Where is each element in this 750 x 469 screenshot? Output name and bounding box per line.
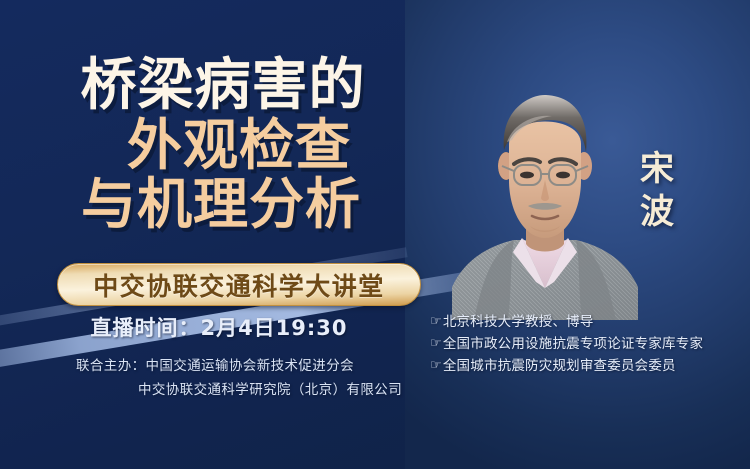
speaker-portrait [452, 92, 638, 320]
credential-item: ☞北京科技大学教授、博导 [430, 312, 703, 334]
speaker-name: 宋 波 [630, 148, 684, 233]
speaker-name-char-2: 波 [630, 191, 684, 234]
title-line-1: 桥梁病害的 [0, 58, 438, 114]
pointing-hand-icon: ☞ [430, 333, 442, 354]
webinar-poster: 桥梁病害的 外观检查 与机理分析 中交协联交通科学大讲堂 直播时间：2月4日19… [0, 0, 750, 469]
speaker-name-char-1: 宋 [630, 148, 684, 191]
credential-text: 全国市政公用设施抗震专项论证专家库专家 [443, 336, 703, 352]
organizer-line-1: 联合主办：中国交通运输协会新技术促进分会 [76, 355, 446, 379]
title-line-2: 外观检查 [0, 118, 438, 173]
credential-item: ☞全国城市抗震防灾规划审查委员会委员 [430, 356, 703, 378]
credential-item: ☞全国市政公用设施抗震专项论证专家库专家 [430, 334, 703, 356]
pointing-hand-icon: ☞ [430, 355, 442, 376]
title-line-3: 与机理分析 [0, 177, 438, 232]
organizers-block: 联合主办：中国交通运输协会新技术促进分会 中交协联交通科学研究院（北京）有限公司 [0, 355, 446, 402]
credential-text: 全国城市抗震防灾规划审查委员会委员 [443, 358, 676, 374]
organizer-line-2: 中交协联交通科学研究院（北京）有限公司 [76, 379, 446, 403]
series-banner-label: 中交协联交通科学大讲堂 [93, 267, 385, 303]
poster-title: 桥梁病害的 外观检查 与机理分析 [0, 58, 438, 232]
speaker-credentials: ☞北京科技大学教授、博导 ☞全国市政公用设施抗震专项论证专家库专家 ☞全国城市抗… [430, 312, 703, 378]
series-banner: 中交协联交通科学大讲堂 [57, 263, 421, 306]
broadcast-time: 直播时间：2月4日19:30 [0, 312, 438, 342]
pointing-hand-icon: ☞ [430, 311, 442, 332]
credential-text: 北京科技大学教授、博导 [443, 314, 594, 330]
